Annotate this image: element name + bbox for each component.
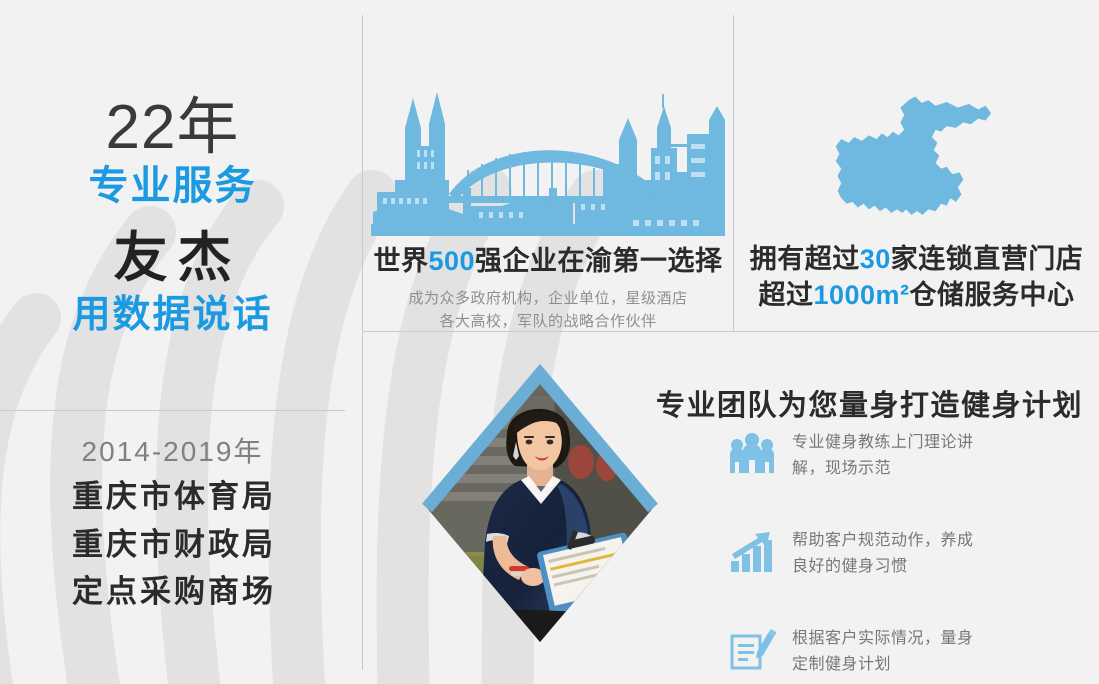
warehouse-highlight-1000: 1000m²	[813, 280, 909, 310]
feature-2-line-2: 良好的健身习惯	[792, 554, 1088, 580]
feature-3-line-1: 根据客户实际情况，量身	[792, 626, 1088, 652]
award-line-2: 重庆市财政局	[0, 524, 345, 566]
stores-part-1: 拥有超过	[750, 244, 860, 274]
headline-highlight-500: 500	[428, 246, 475, 276]
chongqing-skyline-icon	[371, 84, 725, 236]
feature-3-line-2: 定制健身计划	[792, 652, 1088, 678]
subline-2: 各大高校，军队的战略合作伙伴	[363, 310, 733, 333]
years-count: 22年	[0, 96, 345, 159]
headline-part-3: 强企业在渝第一选择	[475, 246, 723, 276]
cell-stores-headline-line2: 超过1000m²仓储服务中心	[734, 278, 1099, 314]
headline-part-1: 世界	[373, 246, 428, 276]
feature-item-2-text: 帮助客户规范动作，养成 良好的健身习惯	[792, 528, 1088, 580]
brand-block: 22年 专业服务 友杰 用数据说话	[0, 96, 345, 339]
cell-world-500-text: 世界500强企业在渝第一选择 成为众多政府机构，企业单位，星级酒店 各大高校，军…	[363, 244, 733, 333]
feature-item-1-text: 专业健身教练上门理论讲 解，现场示范	[792, 430, 1088, 482]
warehouse-part-3: 仓储服务中心	[910, 280, 1075, 310]
document-pencil-icon	[728, 628, 776, 672]
chongqing-map-icon	[832, 94, 1017, 234]
feature-item-1: 专业健身教练上门理论讲 解，现场示范	[728, 430, 1088, 500]
people-group-icon	[728, 432, 776, 476]
left-brand-panel: 22年 专业服务 友杰 用数据说话 2014-2019年 重庆市体育局 重庆市财…	[0, 0, 345, 684]
poster-stage: 22年 专业服务 友杰 用数据说话 2014-2019年 重庆市体育局 重庆市财…	[0, 0, 1099, 684]
trainer-photo-diamond	[415, 356, 665, 646]
award-line-3: 定点采购商场	[0, 571, 345, 613]
stores-highlight-30: 30	[860, 244, 891, 274]
cell-stores-warehouse-text: 拥有超过30家连锁直营门店 超过1000m²仓储服务中心	[734, 242, 1099, 313]
warehouse-part-1: 超过	[758, 280, 813, 310]
cell-stores-warehouse: 拥有超过30家连锁直营门店 超过1000m²仓储服务中心	[734, 16, 1099, 331]
bar-chart-growth-icon	[728, 530, 776, 574]
cell-world-500: 世界500强企业在渝第一选择 成为众多政府机构，企业单位，星级酒店 各大高校，军…	[363, 16, 733, 331]
feature-item-3-text: 根据客户实际情况，量身 定制健身计划	[792, 626, 1088, 678]
feature-list: 专业健身教练上门理论讲 解，现场示范 帮助客户规范动作，养成 良	[728, 430, 1088, 684]
brand-slogan: 用数据说话	[0, 293, 345, 339]
cell-world-500-headline: 世界500强企业在渝第一选择	[363, 244, 733, 280]
feature-1-line-2: 解，现场示范	[792, 456, 1088, 482]
awards-block: 2014-2019年 重庆市体育局 重庆市财政局 定点采购商场	[0, 430, 345, 613]
bottom-section-title: 专业团队为您量身打造健身计划	[656, 382, 1083, 424]
years-subtitle: 专业服务	[0, 161, 345, 211]
cell-world-500-subtext: 成为众多政府机构，企业单位，星级酒店 各大高校，军队的战略合作伙伴	[363, 287, 733, 334]
feature-item-2: 帮助客户规范动作，养成 良好的健身习惯	[728, 528, 1088, 598]
bottom-section: 专业团队为您量身打造健身计划	[363, 332, 1099, 684]
award-line-1: 重庆市体育局	[0, 476, 345, 518]
cell-stores-headline-line1: 拥有超过30家连锁直营门店	[734, 242, 1099, 278]
brand-name: 友杰	[0, 227, 345, 291]
feature-2-line-1: 帮助客户规范动作，养成	[792, 528, 1088, 554]
stores-part-3: 家连锁直营门店	[891, 244, 1084, 274]
feature-1-line-1: 专业健身教练上门理论讲	[792, 430, 1088, 456]
award-year-range: 2014-2019年	[0, 430, 345, 470]
feature-item-3: 根据客户实际情况，量身 定制健身计划	[728, 626, 1088, 684]
subline-1: 成为众多政府机构，企业单位，星级酒店	[363, 287, 733, 310]
